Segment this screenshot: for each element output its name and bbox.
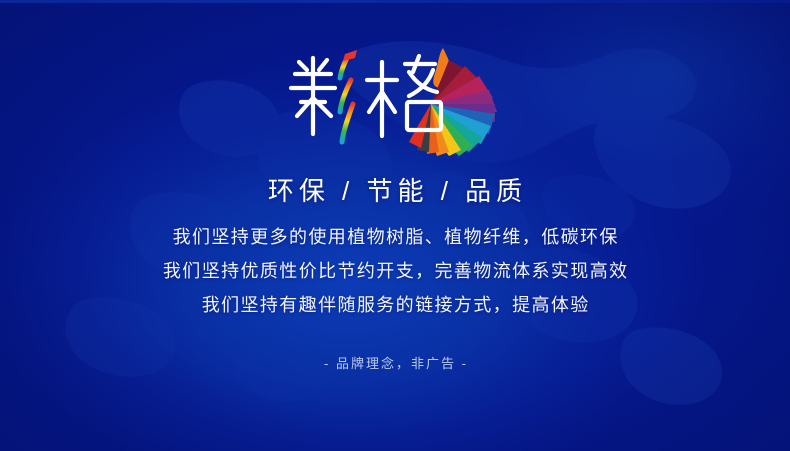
- logo-accent-strokes: [340, 58, 353, 142]
- caige-logo: [285, 36, 505, 152]
- banner-content: 环保 / 节能 / 品质 我们坚持更多的使用植物树脂、植物纤维，低碳环保 我们坚…: [0, 0, 790, 451]
- tagline-line-2: 我们坚持优质性价比节约开支，完善物流体系实现高效: [162, 258, 629, 286]
- brand-banner: 环保 / 节能 / 品质 我们坚持更多的使用植物树脂、植物纤维，低碳环保 我们坚…: [0, 0, 790, 451]
- tagline-line-3: 我们坚持有趣伴随服务的链接方式，提高体验: [200, 292, 589, 320]
- logo-character-cai: [291, 58, 335, 134]
- page-headline: 环保 / 节能 / 品质: [263, 176, 527, 207]
- footer-disclaimer: - 品牌理念，非广告 -: [322, 353, 468, 372]
- tagline-line-1: 我们坚持更多的使用植物树脂、植物纤维，低碳环保: [171, 224, 619, 252]
- tagline-group: 我们坚持更多的使用植物树脂、植物纤维，低碳环保 我们坚持优质性价比节约开支，完善…: [162, 224, 629, 320]
- logo-red-tick: [343, 50, 357, 61]
